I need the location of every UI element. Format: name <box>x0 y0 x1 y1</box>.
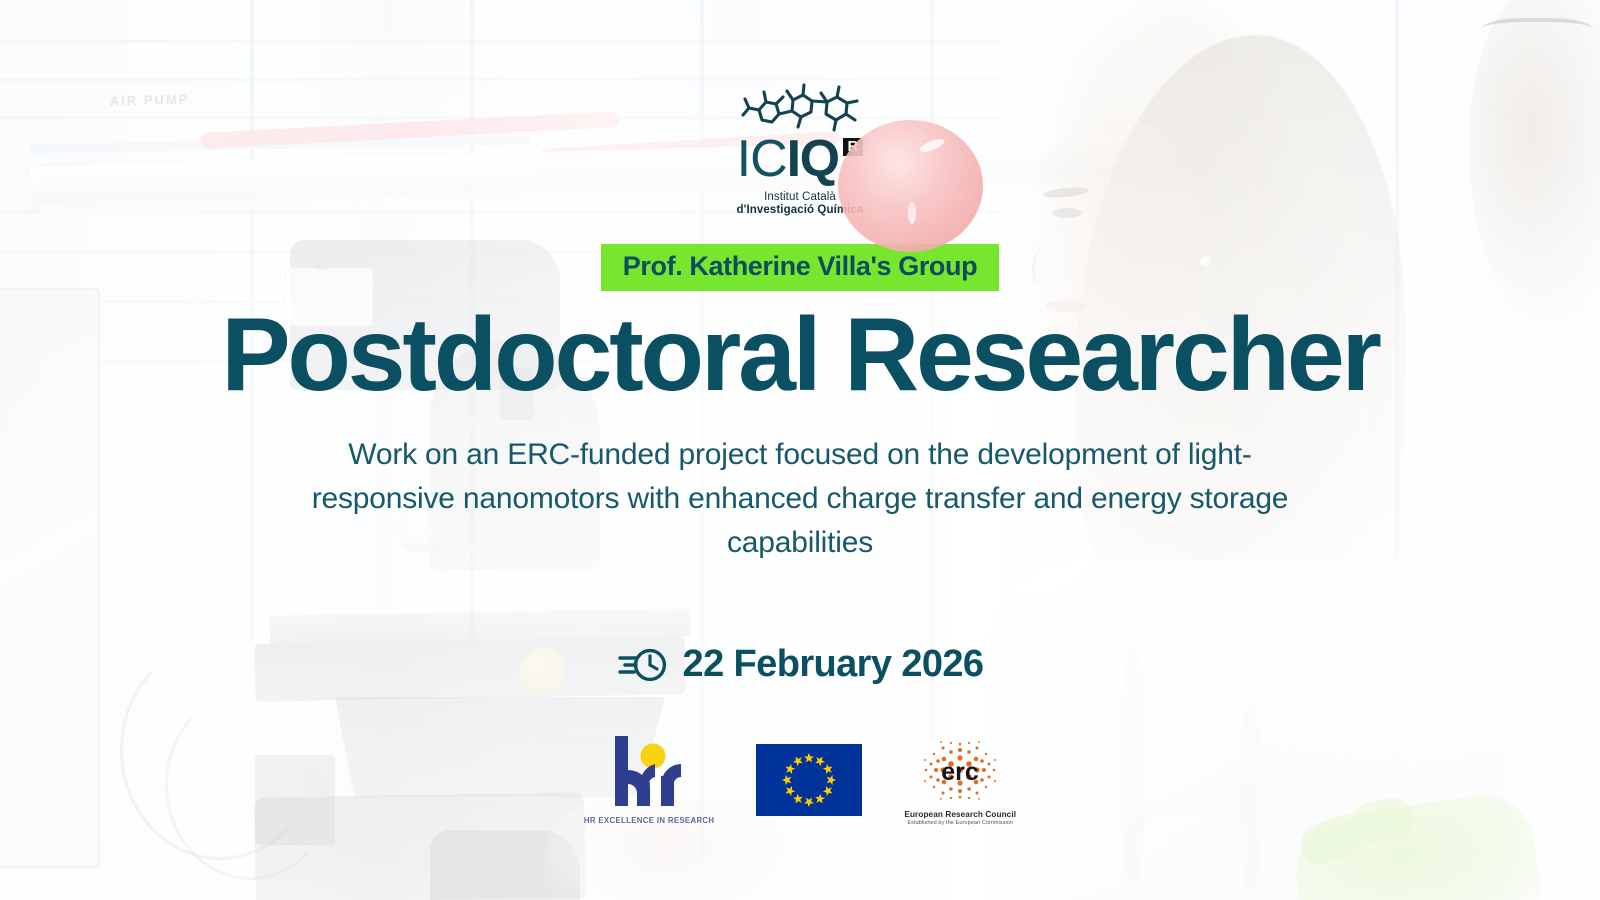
hr-logo-caption: HR EXCELLENCE IN RESEARCH <box>584 816 714 825</box>
deadline-row: 22 February 2026 <box>617 643 984 686</box>
svg-text:erc: erc <box>941 758 979 786</box>
erc-logo: erc European Research Council Establishe… <box>904 740 1016 826</box>
erc-dot-cloud-icon: erc <box>917 740 1003 808</box>
group-badge: Prof. Katherine Villa's Group <box>601 244 999 291</box>
erc-caption-line1: European Research Council <box>904 810 1016 819</box>
hr-excellence-in-research-logo: HR EXCELLENCE IN RESEARCH <box>584 730 714 825</box>
european-union-flag <box>756 744 862 816</box>
job-description: Work on an ERC-funded project focused on… <box>305 433 1295 565</box>
logo-text-iq: IQ <box>787 136 839 184</box>
logo-text-ic: IC <box>737 136 787 184</box>
pink-balloon <box>838 120 983 252</box>
eu-stars-icon <box>756 744 862 816</box>
erc-caption-line2: Established by the European Commission <box>907 820 1013 826</box>
deadline-date: 22 February 2026 <box>683 643 984 686</box>
balloon-highlight <box>908 202 916 224</box>
footer-logos: HR EXCELLENCE IN RESEARCH <box>584 730 1016 826</box>
page-title: Postdoctoral Researcher <box>221 301 1379 409</box>
group-badge-label: Prof. Katherine Villa's Group <box>623 251 977 281</box>
balloon-highlight <box>918 137 945 155</box>
hr-mark-icon <box>601 730 697 812</box>
clock-speed-icon <box>617 645 669 685</box>
